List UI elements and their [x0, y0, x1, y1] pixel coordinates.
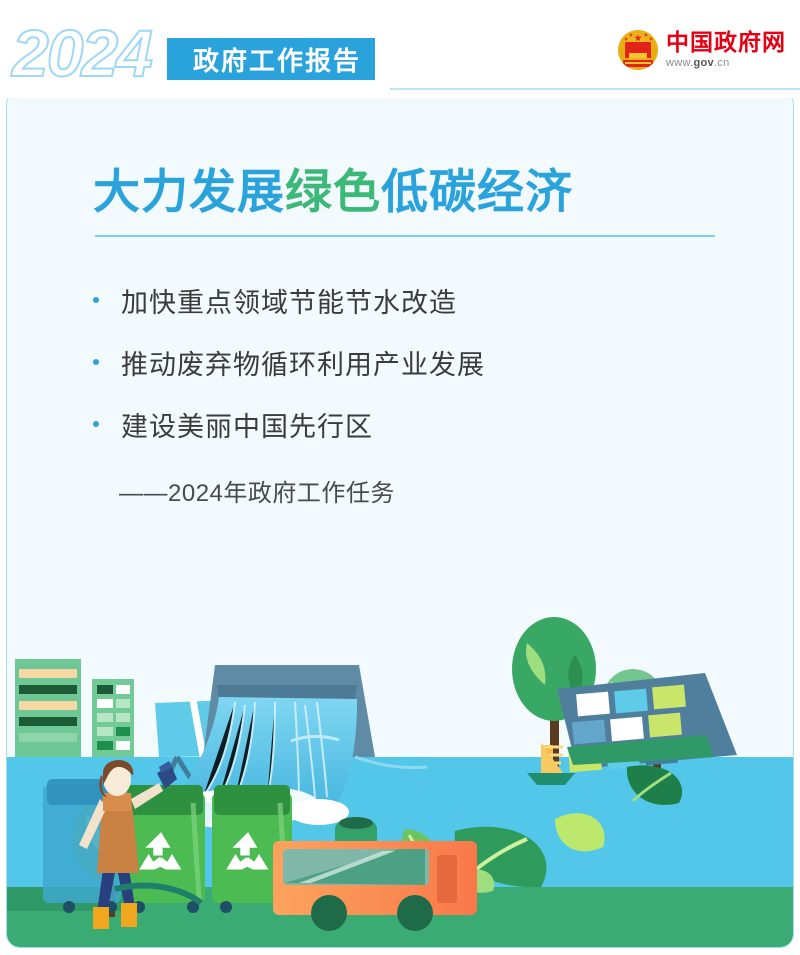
page-title: 大力发展绿色低碳经济 [93, 153, 573, 222]
page-title-highlight: 绿色 [285, 165, 381, 218]
list-item-label: 推动废弃物循环利用产业发展 [121, 343, 485, 382]
page-title-part2: 低碳经济 [381, 165, 573, 218]
emblem-base [623, 60, 653, 67]
site-name-label: 中国政府网 [666, 31, 786, 54]
url-prefix: www. [666, 57, 693, 69]
page-header: 2024 政府工作报告 中国政府网 www.gov.cn [0, 0, 800, 98]
list-item-label: 建设美丽中国先行区 [121, 405, 373, 444]
leaf [555, 813, 605, 851]
report-title-label: 政府工作报告 [193, 41, 361, 78]
year-outline-text: 2024 [12, 20, 151, 86]
bullet-dot-icon [85, 359, 107, 365]
apartment-building [15, 659, 81, 757]
list-item: 加快重点领域节能节水改造 [85, 269, 485, 331]
bullet-dot-icon [85, 297, 107, 303]
url-suffix: .cn [714, 57, 730, 69]
solar-panel-array-right [557, 673, 737, 772]
site-url-label: www.gov.cn [666, 58, 786, 69]
list-item: 建设美丽中国先行区 [85, 393, 485, 455]
list-item-label: 加快重点领域节能节水改造 [121, 281, 457, 320]
title-divider [95, 235, 715, 237]
poster-root: 2024 政府工作报告 中国政府网 www.gov.cn [0, 0, 800, 955]
leaf [627, 765, 682, 805]
source-attribution: ——2024年政府工作任务 [119, 473, 395, 508]
list-item: 推动废弃物循环利用产业发展 [85, 331, 485, 393]
gov-logo-text: 中国政府网 www.gov.cn [666, 31, 786, 69]
emblem-tiananmen [625, 42, 651, 58]
header-underline [390, 88, 800, 90]
page-title-part1: 大力发展 [93, 165, 285, 218]
bullet-list: 加快重点领域节能节水改造 推动废弃物循环利用产业发展 建设美丽中国先行区 [85, 269, 485, 455]
url-mid: gov [693, 57, 713, 69]
office-building [92, 679, 134, 757]
illustration-svg [7, 607, 794, 947]
report-title-banner: 政府工作报告 [167, 38, 375, 80]
bullet-dot-icon [85, 421, 107, 427]
china-national-emblem-icon [618, 30, 658, 70]
gov-logo[interactable]: 中国政府网 www.gov.cn [618, 30, 786, 70]
illustration [7, 607, 794, 947]
content-frame: 大力发展绿色低碳经济 加快重点领域节能节水改造 推动废弃物循环利用产业发展 建设… [6, 90, 794, 948]
